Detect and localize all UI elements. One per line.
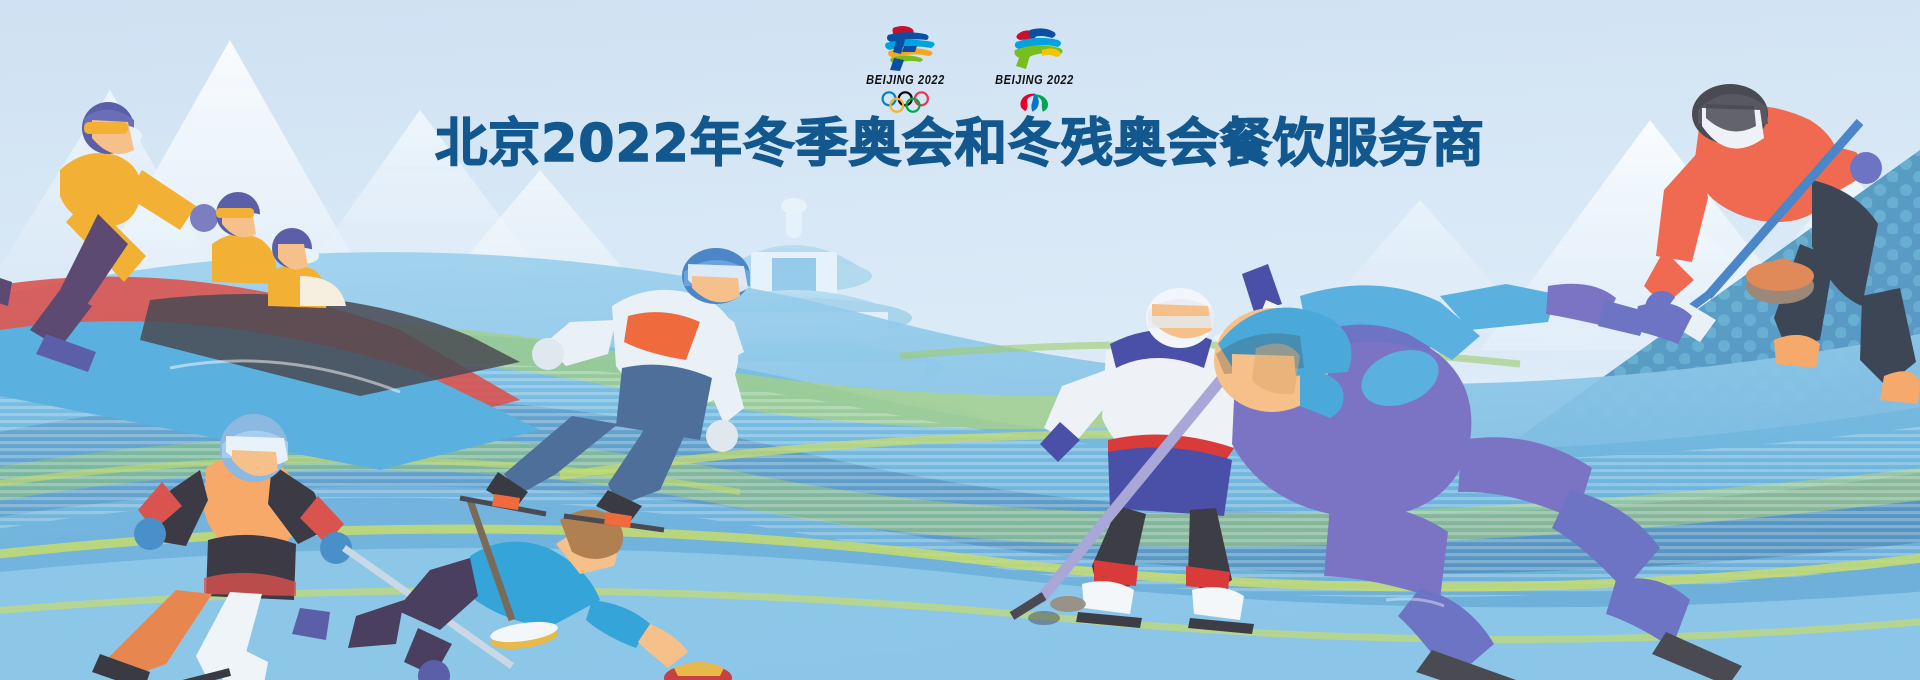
olympic-wordmark: BEIJING 2022 — [866, 75, 945, 88]
olympic-rings-icon — [880, 91, 930, 113]
athlete-speed-skater — [1214, 284, 1742, 680]
athlete-curler-delivering — [292, 500, 732, 680]
winter-dream-emblem-icon — [873, 22, 939, 72]
page-title: 北京2022年冬季奥会和冬残奥会餐饮服务商 — [0, 118, 1920, 170]
beijing-2022-paralympic-logo[interactable]: BEIJING 2022 — [987, 22, 1082, 113]
athlete-short-track-skater — [460, 248, 750, 530]
flight-emblem-icon — [1002, 22, 1068, 72]
emblem-group: BEIJING 2022 BEIJING 20 — [855, 22, 1085, 122]
olympic-banner: BEIJING 2022 BEIJING 20 — [0, 0, 1920, 680]
paralympic-wordmark: BEIJING 2022 — [995, 75, 1074, 88]
agitos-icon — [1009, 91, 1059, 113]
beijing-2022-olympic-logo[interactable]: BEIJING 2022 — [858, 22, 953, 113]
